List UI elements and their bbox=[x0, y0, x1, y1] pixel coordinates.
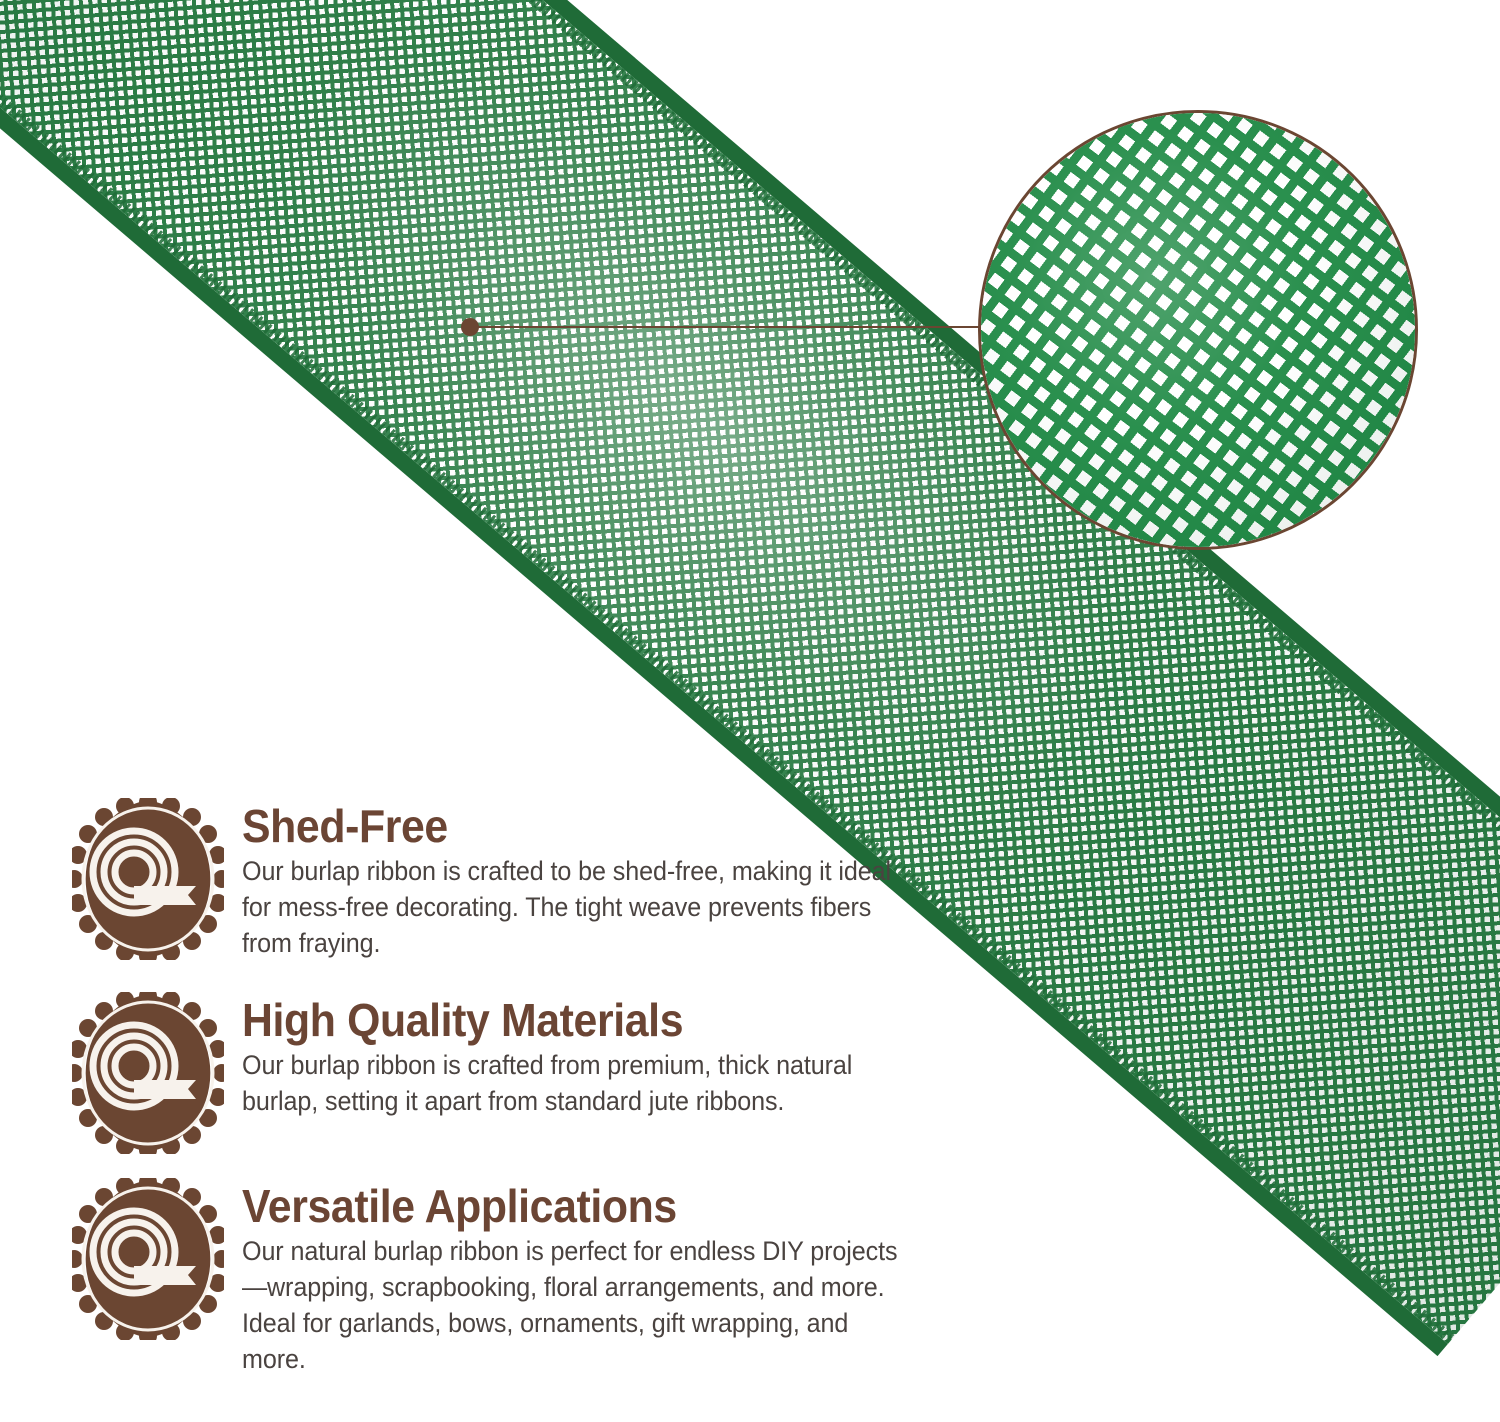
feature-item: Versatile Applications Our natural burla… bbox=[72, 1178, 952, 1378]
feature-title: Versatile Applications bbox=[242, 1182, 902, 1230]
feature-title: Shed-Free bbox=[242, 802, 902, 850]
feature-copy: High Quality Materials Our burlap ribbon… bbox=[242, 992, 952, 1120]
magnifier-callout-line bbox=[472, 326, 980, 328]
ribbon-roll-badge-icon bbox=[72, 1178, 224, 1340]
ribbon-roll-badge-icon bbox=[72, 798, 224, 960]
feature-list: Shed-Free Our burlap ribbon is crafted t… bbox=[72, 798, 952, 1378]
feature-copy: Versatile Applications Our natural burla… bbox=[242, 1178, 952, 1378]
feature-item: Shed-Free Our burlap ribbon is crafted t… bbox=[72, 798, 952, 962]
infographic-canvas: Shed-Free Our burlap ribbon is crafted t… bbox=[0, 0, 1500, 1422]
feature-copy: Shed-Free Our burlap ribbon is crafted t… bbox=[242, 798, 952, 962]
ribbon-roll-badge-icon bbox=[72, 992, 224, 1154]
feature-body: Our burlap ribbon is crafted from premiu… bbox=[242, 1048, 902, 1120]
feature-item: High Quality Materials Our burlap ribbon… bbox=[72, 992, 952, 1154]
feature-body: Our burlap ribbon is crafted to be shed-… bbox=[242, 854, 902, 962]
feature-body: Our natural burlap ribbon is perfect for… bbox=[242, 1234, 902, 1378]
magnifier-shading-overlay bbox=[981, 113, 1415, 547]
magnifier-callout-dot bbox=[461, 318, 479, 336]
feature-title: High Quality Materials bbox=[242, 996, 902, 1044]
weave-closeup-magnifier bbox=[978, 110, 1418, 550]
